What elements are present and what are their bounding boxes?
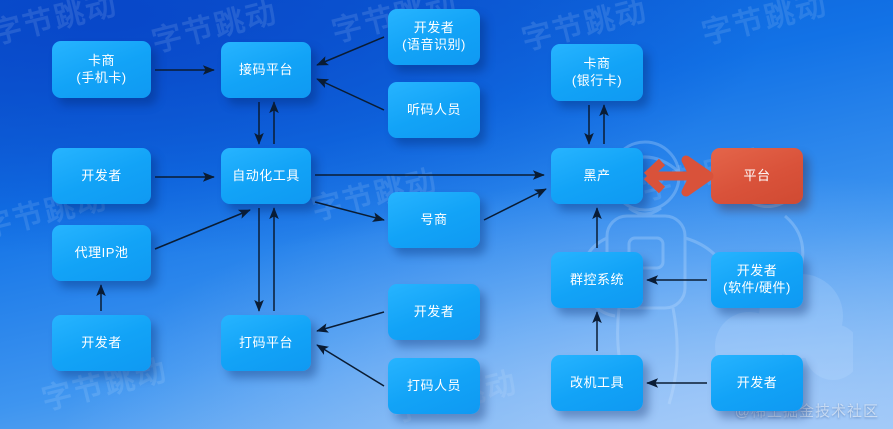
node-dev_left[interactable]: 开发者 [52,148,151,204]
node-proxy_ip[interactable]: 代理IP池 [52,225,151,281]
edge-dev_mid-to-dama_plat [317,312,384,331]
node-dev_mid[interactable]: 开发者 [388,284,480,340]
edge-haoshang-to-heichan [484,189,546,220]
node-tingma[interactable]: 听码人员 [388,82,480,138]
diagram-canvas: 字节跳动 字节跳动 字节跳动 字节跳动 字节跳动 字节跳动 字节跳动 字节跳动 … [0,0,893,429]
node-auto_tool[interactable]: 自动化工具 [221,148,311,204]
node-dev_right[interactable]: 开发者 [711,355,803,411]
node-pingtai[interactable]: 平台 [711,148,803,204]
node-dama_staff[interactable]: 打码人员 [388,358,480,414]
node-gaiji[interactable]: 改机工具 [551,355,643,411]
node-jiema[interactable]: 接码平台 [221,42,311,98]
node-qunkong[interactable]: 群控系统 [551,252,643,308]
edge-tingma-to-jiema [317,79,384,110]
edge-dev_voice-to-jiema [317,37,384,65]
node-dama_plat[interactable]: 打码平台 [221,315,311,371]
node-dev_bottom[interactable]: 开发者 [52,315,151,371]
node-heichan[interactable]: 黑产 [551,148,643,204]
edge-auto_tool-to-haoshang [315,202,384,220]
watermark-tile: 字节跳动 [697,0,832,53]
edge-proxy_ip-to-auto_tool [155,210,250,249]
node-dev_sw_hw[interactable]: 开发者 (软件/硬件) [711,252,803,308]
node-kashang_bank[interactable]: 卡商 (银行卡) [551,44,643,101]
node-haoshang[interactable]: 号商 [388,192,480,248]
node-kashang_phone[interactable]: 卡商 (手机卡) [52,41,151,98]
edge-dama_staff-to-dama_plat [317,345,384,386]
node-dev_voice[interactable]: 开发者 (语音识别) [388,9,480,65]
